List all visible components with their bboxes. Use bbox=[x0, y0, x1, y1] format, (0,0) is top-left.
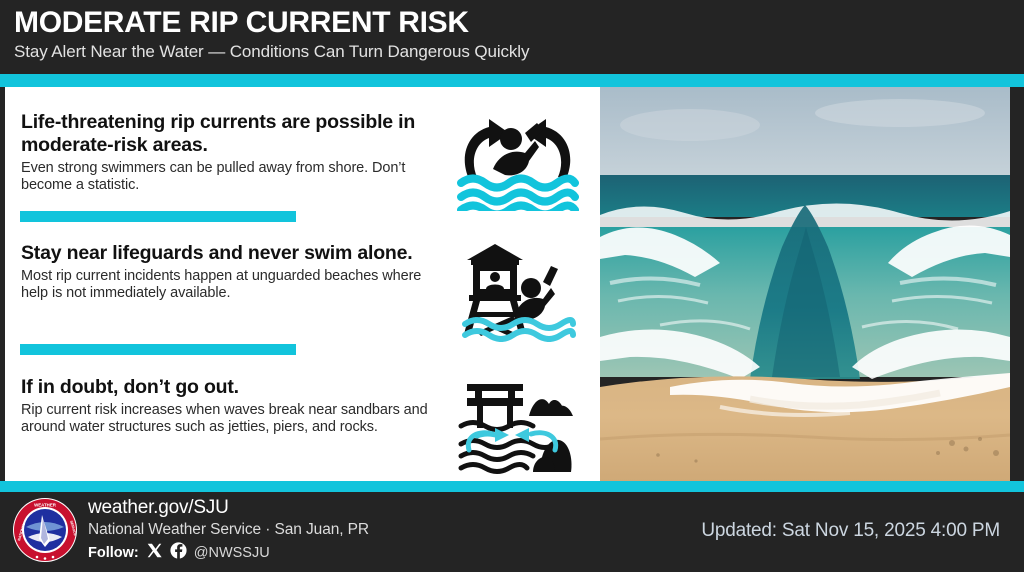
footer-identity: weather.gov/SJU National Weather Service… bbox=[88, 496, 369, 564]
header-banner: MODERATE RIP CURRENT RISK Stay Alert Nea… bbox=[0, 0, 1024, 74]
rip-current-risk-infographic: MODERATE RIP CURRENT RISK Stay Alert Nea… bbox=[0, 0, 1024, 572]
svg-text:WEATHER: WEATHER bbox=[34, 503, 57, 508]
beach-rip-current-photo bbox=[600, 87, 1010, 481]
divider-1 bbox=[20, 211, 296, 222]
safety-tip-3-heading: If in doubt, don’t go out. bbox=[21, 376, 441, 399]
weather-gov-url[interactable]: weather.gov/SJU bbox=[88, 496, 369, 520]
x-twitter-icon[interactable] bbox=[146, 542, 163, 564]
nws-seal-logo: WEATHER NATIONAL SERVICE bbox=[12, 497, 78, 563]
safety-tip-3-body: Rip current risk increases when waves br… bbox=[21, 402, 441, 436]
divider-2 bbox=[20, 344, 296, 355]
office-name: National Weather Service · San Juan, PR bbox=[88, 520, 369, 540]
safety-tip-3-text: If in doubt, don’t go out. Rip current r… bbox=[21, 376, 441, 436]
safety-tip-1-heading: Life-threatening rip currents are possib… bbox=[21, 111, 441, 157]
safety-tip-1-body: Even strong swimmers can be pulled away … bbox=[21, 160, 441, 194]
pier-and-rocks-icon bbox=[455, 376, 580, 476]
safety-tip-2-text: Stay near lifeguards and never swim alon… bbox=[21, 242, 441, 302]
facebook-icon[interactable] bbox=[170, 542, 187, 564]
updated-timestamp: Updated: Sat Nov 15, 2025 4:00 PM bbox=[701, 520, 1000, 542]
lifeguard-tower-icon bbox=[455, 242, 580, 342]
page-subtitle: Stay Alert Near the Water — Conditions C… bbox=[14, 40, 1024, 64]
social-follow-row: Follow: @NWSSJU bbox=[88, 542, 369, 564]
safety-tips-panel: Life-threatening rip currents are possib… bbox=[5, 87, 600, 481]
page-title: MODERATE RIP CURRENT RISK bbox=[14, 6, 1024, 40]
safety-tip-2-body: Most rip current incidents happen at ung… bbox=[21, 268, 441, 302]
swimmer-in-rip-current-icon bbox=[455, 111, 580, 211]
top-accent-bar bbox=[0, 74, 1024, 87]
bottom-accent-bar bbox=[0, 481, 1024, 492]
safety-tip-2-heading: Stay near lifeguards and never swim alon… bbox=[21, 242, 441, 265]
follow-label: Follow: bbox=[88, 545, 139, 561]
social-handle: @NWSSJU bbox=[194, 545, 270, 561]
safety-tip-1-text: Life-threatening rip currents are possib… bbox=[21, 111, 441, 194]
footer-bar: WEATHER NATIONAL SERVICE weather.gov/SJU… bbox=[0, 492, 1024, 572]
content-area: Life-threatening rip currents are possib… bbox=[0, 87, 1024, 481]
